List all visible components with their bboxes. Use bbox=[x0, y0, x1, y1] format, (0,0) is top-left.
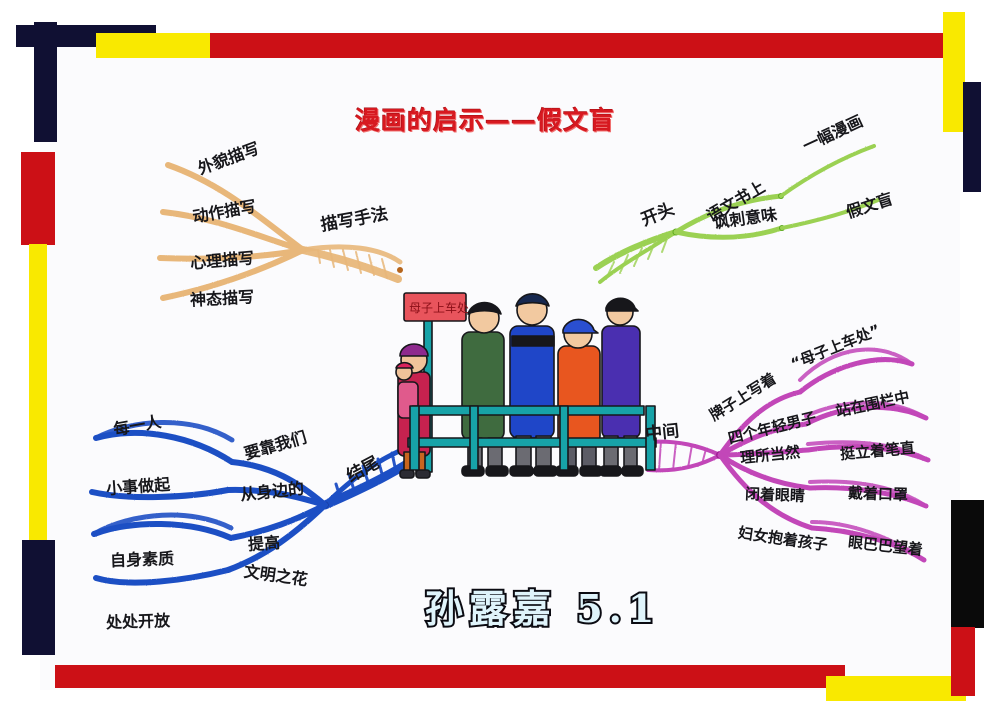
node-blue-grandchild-3[interactable]: 处处开放 bbox=[106, 607, 171, 633]
node-blue-grandchild-2[interactable]: 自身素质 bbox=[110, 545, 175, 571]
figure-man-purple-coat bbox=[600, 298, 643, 476]
figure-man-blue-coat bbox=[510, 294, 557, 476]
node-orange-child-3[interactable]: 神态描写 bbox=[189, 283, 254, 310]
node-magenta-grandchild-3[interactable]: 戴着口罩 bbox=[848, 482, 909, 505]
author-signature: 孙露嘉 5.1 bbox=[425, 578, 660, 633]
sign-label: 母子上车处 bbox=[409, 300, 469, 315]
page-title: 漫画的启示——假文盲 bbox=[355, 101, 615, 137]
mindmap-poster: 母子上车处 bbox=[0, 0, 1000, 721]
figure-man-green-coat bbox=[462, 303, 508, 476]
node-magenta-main[interactable]: 中间 bbox=[644, 416, 680, 444]
node-blue-child-2[interactable]: 提高 bbox=[247, 529, 281, 555]
node-blue-grandchild-1[interactable]: 小事做起 bbox=[105, 471, 171, 499]
node-magenta-child-3[interactable]: 闭着眼睛 bbox=[745, 483, 806, 506]
